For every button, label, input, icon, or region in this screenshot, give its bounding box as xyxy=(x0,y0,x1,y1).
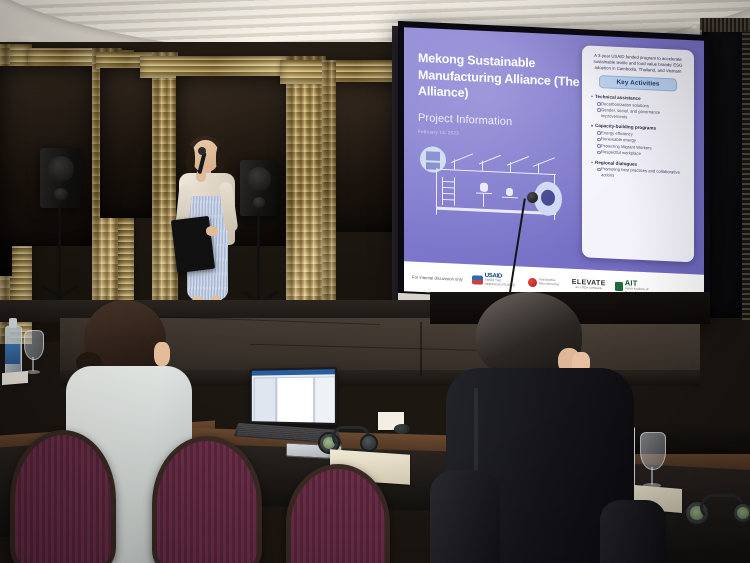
usaid-mark-icon xyxy=(472,275,483,284)
gold-wall-cornice xyxy=(140,56,288,78)
slide-subtitle: Project Information xyxy=(418,112,512,128)
activity-group: Technical assistance Decarbonization sol… xyxy=(590,94,686,123)
internal-discussion-note: For internal discussion only xyxy=(412,274,463,281)
wall-recess xyxy=(100,68,158,218)
key-activities-badge: Key Activities xyxy=(599,75,677,92)
factory-illustration xyxy=(414,146,574,241)
elevate-tagline: an LRQA company xyxy=(572,286,606,291)
partner-tagline: Sustainable Manufacturing xyxy=(539,279,563,287)
chair-right[interactable] xyxy=(286,464,390,563)
partner-mark-icon xyxy=(528,277,537,286)
presenter-hand-folder xyxy=(206,226,218,236)
projection-screen: Mekong Sustainable Manufacturing Allianc… xyxy=(398,21,710,317)
chair-center[interactable] xyxy=(152,436,262,563)
stage-seam xyxy=(420,322,422,376)
slide-date: February 14, 2023 xyxy=(418,129,459,136)
activity-item: Promoting best practices and collaborati… xyxy=(601,167,686,182)
downlight-icon xyxy=(690,24,699,29)
presenter-hair-left xyxy=(186,146,195,172)
elevate-logo: ELEVATE an LRQA company xyxy=(572,279,606,291)
gold-wall-cornice xyxy=(28,48,100,68)
attendee-face-edge xyxy=(154,342,170,366)
slide-title: Mekong Sustainable Manufacturing Allianc… xyxy=(418,50,588,108)
presentation-slide: Mekong Sustainable Manufacturing Allianc… xyxy=(404,27,704,305)
pa-speaker-left xyxy=(40,148,82,208)
chair-left[interactable] xyxy=(10,430,116,563)
microphone-head-icon xyxy=(198,147,206,155)
mic-stand-head-icon xyxy=(527,192,538,203)
small-bowl xyxy=(394,424,410,434)
ait-mark-icon xyxy=(615,281,623,290)
chair-back-right-attendee[interactable] xyxy=(430,470,500,563)
laptop-screen[interactable] xyxy=(250,367,337,425)
conference-room-photo: Mekong Sustainable Manufacturing Allianc… xyxy=(0,0,750,563)
usaid-tagline: FROM THE AMERICAN PEOPLE xyxy=(485,279,519,288)
presenter-hair-right xyxy=(216,146,225,172)
name-card-left xyxy=(2,371,28,385)
card-lead-text: A 3-year USAID funded program to acceler… xyxy=(590,53,686,76)
gold-wall-trim xyxy=(742,30,750,320)
partner-logo: Sustainable Manufacturing xyxy=(528,277,563,288)
activity-group: Regional dialogues Promoting best practi… xyxy=(590,160,686,182)
activity-group: Capacity-building programs Energy effici… xyxy=(590,123,686,159)
presenter-folder xyxy=(171,216,215,273)
chair-far-right[interactable] xyxy=(600,500,666,563)
slide-key-activities-card: A 3-year USAID funded program to acceler… xyxy=(582,45,694,262)
laptop-document-view xyxy=(252,369,335,423)
